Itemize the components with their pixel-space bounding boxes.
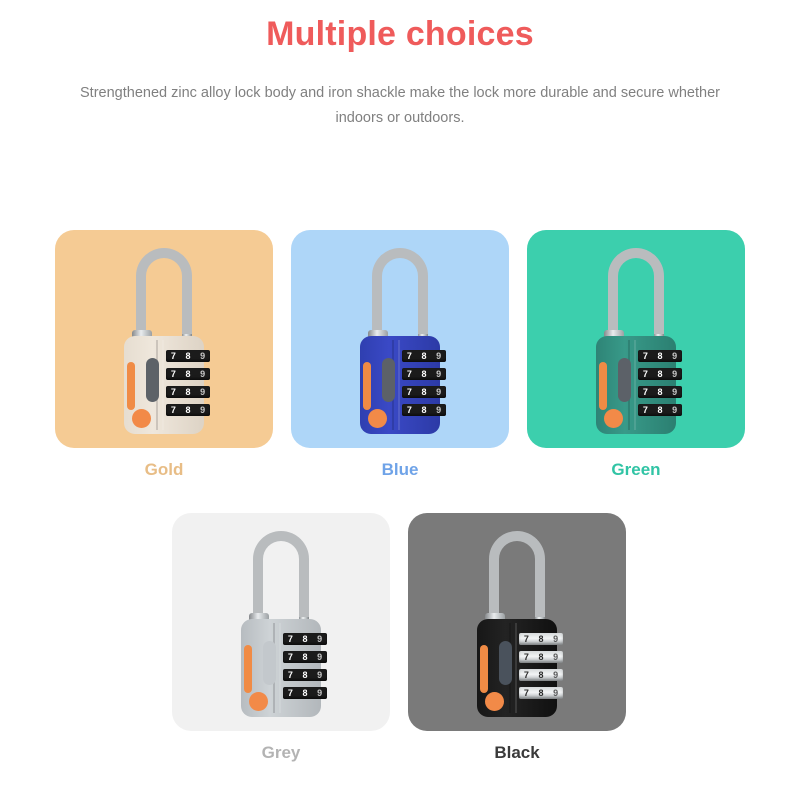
reset-pill xyxy=(263,641,276,685)
dial-digit: 7 xyxy=(171,388,176,397)
shackle xyxy=(253,531,309,617)
dial-digit: 9 xyxy=(553,671,558,680)
dial-digit: 8 xyxy=(538,635,543,644)
swatch-row-top: 7 8 9 7 8 9 7 8 xyxy=(55,230,745,480)
dial-row: 7 8 9 xyxy=(638,386,682,398)
swatch-card-grey[interactable]: 7 8 9 7 8 9 7 8 xyxy=(172,513,390,731)
dial-digit: 9 xyxy=(317,689,322,698)
shackle xyxy=(489,531,545,617)
dial-digit: 9 xyxy=(436,370,441,379)
orange-release-button xyxy=(485,692,504,711)
swatch-label-gold: Gold xyxy=(55,460,273,480)
dial-digit: 9 xyxy=(672,388,677,397)
reset-pill xyxy=(146,358,159,402)
dial-digit: 7 xyxy=(643,406,648,415)
dial-digit: 8 xyxy=(185,388,190,397)
dial-digit: 9 xyxy=(553,689,558,698)
swatch-label-grey: Grey xyxy=(172,743,390,763)
body-seam-highlight xyxy=(279,623,281,713)
orange-release-button xyxy=(132,409,151,428)
dial-digit: 9 xyxy=(436,352,441,361)
shackle-arc xyxy=(489,531,545,617)
dial-digit: 8 xyxy=(302,671,307,680)
lock-body: 7 8 9 7 8 9 7 8 xyxy=(360,336,440,434)
body-seam-highlight xyxy=(634,340,636,430)
dial-digit: 8 xyxy=(185,370,190,379)
orange-release-button xyxy=(604,409,623,428)
reset-pill xyxy=(499,641,512,685)
dial-digit: 8 xyxy=(302,635,307,644)
dial-digit: 8 xyxy=(657,406,662,415)
dial-digit: 7 xyxy=(407,388,412,397)
dial-digit: 9 xyxy=(672,406,677,415)
dial-stack: 7 8 9 7 8 9 7 8 xyxy=(402,350,446,422)
swatch-card-gold[interactable]: 7 8 9 7 8 9 7 8 xyxy=(55,230,273,448)
dial-digit: 7 xyxy=(407,370,412,379)
page-title: Multiple choices xyxy=(0,14,800,55)
reset-pill xyxy=(382,358,395,402)
dial-row: 7 8 9 xyxy=(283,633,327,645)
dial-digit: 8 xyxy=(185,406,190,415)
dial-row: 7 8 9 xyxy=(402,386,446,398)
dial-row: 7 8 9 xyxy=(402,368,446,380)
body-seam-highlight xyxy=(162,340,164,430)
dial-digit: 8 xyxy=(421,406,426,415)
dial-digit: 9 xyxy=(317,635,322,644)
dial-digit: 8 xyxy=(421,388,426,397)
orange-strip xyxy=(244,645,252,693)
shackle-arc xyxy=(136,248,192,334)
dial-stack: 7 8 9 7 8 9 7 8 xyxy=(166,350,210,422)
page-subtitle: Strengthened zinc alloy lock body and ir… xyxy=(74,81,726,131)
dial-digit: 9 xyxy=(200,406,205,415)
padlock-icon-blue: 7 8 9 7 8 9 7 8 xyxy=(344,248,456,434)
dial-digit: 8 xyxy=(538,653,543,662)
padlock-icon-black: 7 8 9 7 8 9 7 8 xyxy=(461,531,573,717)
body-seam-highlight xyxy=(515,623,517,713)
lock-body: 7 8 9 7 8 9 7 8 xyxy=(477,619,557,717)
dial-digit: 7 xyxy=(643,370,648,379)
swatch-row-bottom: 7 8 9 7 8 9 7 8 xyxy=(172,513,626,763)
dial-digit: 9 xyxy=(553,635,558,644)
swatch-label-green: Green xyxy=(527,460,745,480)
dial-row: 7 8 9 xyxy=(638,404,682,416)
dial-row: 7 8 9 xyxy=(519,633,563,645)
dial-digit: 8 xyxy=(302,689,307,698)
dial-digit: 7 xyxy=(407,352,412,361)
dial-digit: 9 xyxy=(200,388,205,397)
dial-digit: 7 xyxy=(524,689,529,698)
orange-release-button xyxy=(368,409,387,428)
swatch-label-blue: Blue xyxy=(291,460,509,480)
swatch-card-black[interactable]: 7 8 9 7 8 9 7 8 xyxy=(408,513,626,731)
dial-digit: 9 xyxy=(317,671,322,680)
padlock-icon-green: 7 8 9 7 8 9 7 8 xyxy=(580,248,692,434)
shackle xyxy=(372,248,428,334)
dial-digit: 8 xyxy=(302,653,307,662)
dial-row: 7 8 9 xyxy=(638,350,682,362)
swatch-label-black: Black xyxy=(408,743,626,763)
swatch-item-black[interactable]: 7 8 9 7 8 9 7 8 xyxy=(408,513,626,763)
dial-stack: 7 8 9 7 8 9 7 8 xyxy=(283,633,327,705)
padlock-icon-gold: 7 8 9 7 8 9 7 8 xyxy=(108,248,220,434)
dial-digit: 7 xyxy=(171,370,176,379)
dial-digit: 9 xyxy=(200,352,205,361)
swatch-item-grey[interactable]: 7 8 9 7 8 9 7 8 xyxy=(172,513,390,763)
orange-strip xyxy=(363,362,371,410)
dial-digit: 9 xyxy=(436,406,441,415)
orange-release-button xyxy=(249,692,268,711)
reset-pill xyxy=(618,358,631,402)
dial-row: 7 8 9 xyxy=(166,404,210,416)
padlock-icon-grey: 7 8 9 7 8 9 7 8 xyxy=(225,531,337,717)
dial-digit: 9 xyxy=(672,352,677,361)
dial-row: 7 8 9 xyxy=(638,368,682,380)
dial-row: 7 8 9 xyxy=(402,404,446,416)
orange-strip xyxy=(480,645,488,693)
dial-digit: 8 xyxy=(538,671,543,680)
dial-row: 7 8 9 xyxy=(519,669,563,681)
swatch-card-blue[interactable]: 7 8 9 7 8 9 7 8 xyxy=(291,230,509,448)
dial-row: 7 8 9 xyxy=(166,350,210,362)
lock-body: 7 8 9 7 8 9 7 8 xyxy=(596,336,676,434)
dial-digit: 7 xyxy=(288,653,293,662)
dial-stack: 7 8 9 7 8 9 7 8 xyxy=(638,350,682,422)
dial-digit: 7 xyxy=(288,671,293,680)
dial-digit: 7 xyxy=(643,388,648,397)
dial-digit: 7 xyxy=(288,635,293,644)
shackle-arc xyxy=(253,531,309,617)
dial-digit: 9 xyxy=(553,653,558,662)
page-header: Multiple choices Strengthened zinc alloy… xyxy=(0,0,800,131)
dial-digit: 9 xyxy=(317,653,322,662)
dial-digit: 9 xyxy=(436,388,441,397)
dial-row: 7 8 9 xyxy=(283,687,327,699)
dial-row: 7 8 9 xyxy=(166,368,210,380)
swatch-card-green[interactable]: 7 8 9 7 8 9 7 8 xyxy=(527,230,745,448)
shackle xyxy=(136,248,192,334)
dial-digit: 8 xyxy=(657,370,662,379)
dial-row: 7 8 9 xyxy=(283,651,327,663)
dial-row: 7 8 9 xyxy=(283,669,327,681)
dial-digit: 7 xyxy=(524,635,529,644)
swatch-item-green[interactable]: 7 8 9 7 8 9 7 8 xyxy=(527,230,745,480)
dial-digit: 7 xyxy=(288,689,293,698)
shackle-arc xyxy=(608,248,664,334)
lock-body: 7 8 9 7 8 9 7 8 xyxy=(124,336,204,434)
body-seam-highlight xyxy=(398,340,400,430)
dial-row: 7 8 9 xyxy=(166,386,210,398)
dial-digit: 8 xyxy=(421,370,426,379)
dial-digit: 8 xyxy=(657,388,662,397)
lock-body: 7 8 9 7 8 9 7 8 xyxy=(241,619,321,717)
dial-digit: 9 xyxy=(672,370,677,379)
dial-digit: 8 xyxy=(657,352,662,361)
dial-row: 7 8 9 xyxy=(519,687,563,699)
dial-row: 7 8 9 xyxy=(402,350,446,362)
dial-digit: 7 xyxy=(171,406,176,415)
orange-strip xyxy=(127,362,135,410)
dial-digit: 7 xyxy=(643,352,648,361)
dial-digit: 7 xyxy=(171,352,176,361)
dial-digit: 8 xyxy=(538,689,543,698)
orange-strip xyxy=(599,362,607,410)
dial-digit: 8 xyxy=(421,352,426,361)
dial-stack: 7 8 9 7 8 9 7 8 xyxy=(519,633,563,705)
dial-digit: 7 xyxy=(524,653,529,662)
swatch-item-blue[interactable]: 7 8 9 7 8 9 7 8 xyxy=(291,230,509,480)
dial-row: 7 8 9 xyxy=(519,651,563,663)
shackle xyxy=(608,248,664,334)
dial-digit: 8 xyxy=(185,352,190,361)
swatch-item-gold[interactable]: 7 8 9 7 8 9 7 8 xyxy=(55,230,273,480)
dial-digit: 7 xyxy=(524,671,529,680)
dial-digit: 7 xyxy=(407,406,412,415)
dial-digit: 9 xyxy=(200,370,205,379)
shackle-arc xyxy=(372,248,428,334)
